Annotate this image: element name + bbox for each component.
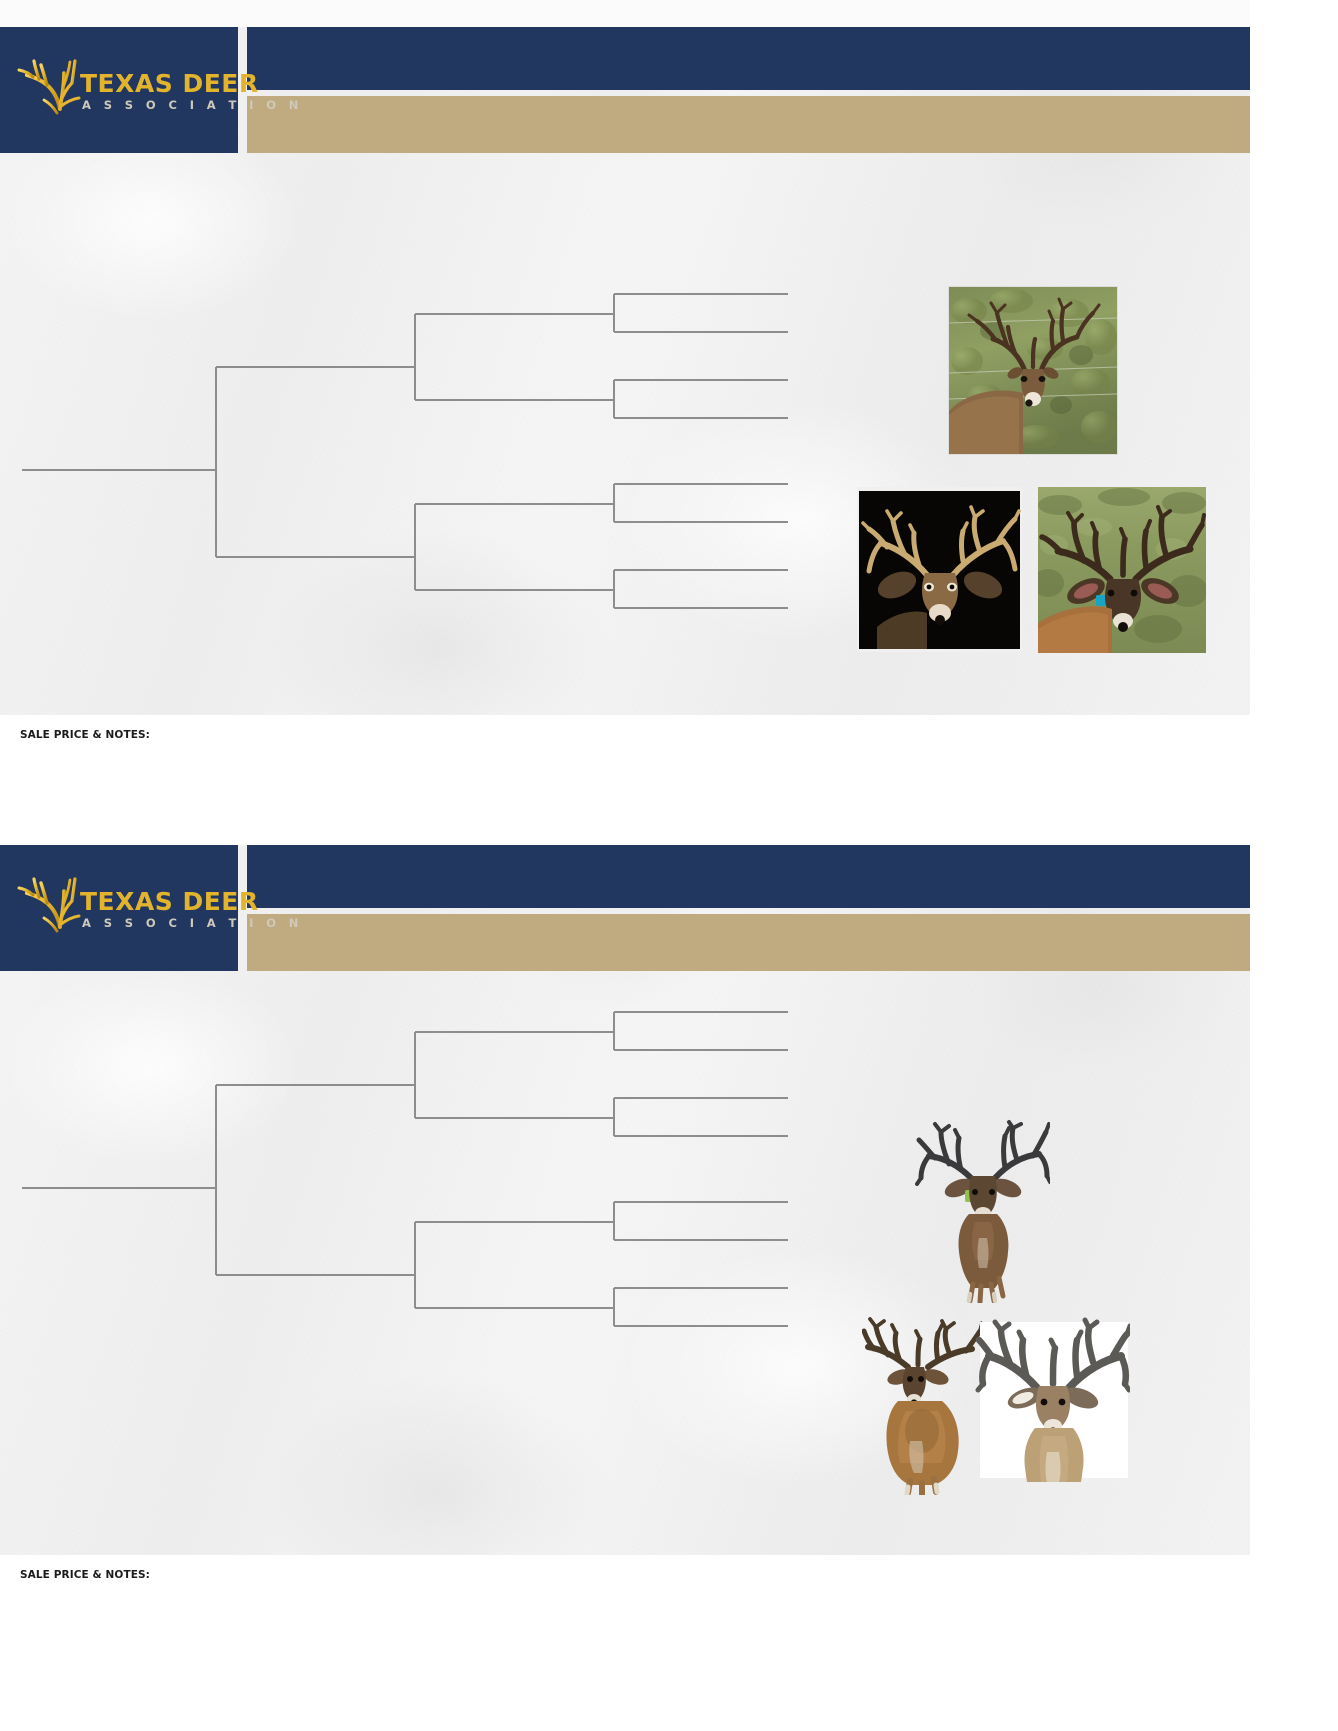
page-header: TEXAS DEER A S S O C I A T I O N: [0, 27, 1250, 153]
catalog-page-2: TEXAS DEER A S S O C I A T I O N: [0, 845, 1250, 1635]
header-navy-bar: [247, 845, 1250, 908]
header-tan-bar: [247, 914, 1250, 971]
page-top-margin: [0, 0, 1250, 27]
bottom-margin: [0, 1635, 1338, 1731]
buck-photo-night[interactable]: [857, 487, 1022, 652]
logo-subtitle: A S S O C I A T I O N: [82, 98, 303, 112]
logo-block[interactable]: TEXAS DEER A S S O C I A T I O N: [0, 845, 238, 971]
header-navy-bar: [247, 27, 1250, 90]
logo-subtitle: A S S O C I A T I O N: [82, 916, 303, 930]
buck-photo-velvet[interactable]: [1038, 487, 1206, 653]
logo-wordmark: TEXAS DEER: [80, 69, 259, 98]
buck-photo-main[interactable]: [915, 1118, 1050, 1303]
page-header: TEXAS DEER A S S O C I A T I O N: [0, 845, 1250, 971]
page-footer: [0, 1555, 1250, 1635]
sale-price-notes-label: SALE PRICE & NOTES:: [20, 1569, 150, 1581]
header-tan-bar: [247, 96, 1250, 153]
pedigree-bracket[interactable]: [0, 1000, 820, 1340]
logo-wordmark: TEXAS DEER: [80, 887, 259, 916]
sale-price-notes-label: SALE PRICE & NOTES:: [20, 729, 150, 741]
buck-photo-rear[interactable]: [862, 1315, 982, 1495]
buck-photo-white-card[interactable]: [975, 1306, 1130, 1482]
right-margin: [1250, 0, 1338, 1731]
catalog-page-1: TEXAS DEER A S S O C I A T I O N: [0, 0, 1250, 790]
page-gap: [0, 790, 1338, 845]
buck-photo-main[interactable]: [948, 286, 1118, 455]
pedigree-bracket[interactable]: [0, 282, 820, 622]
logo-block[interactable]: TEXAS DEER A S S O C I A T I O N: [0, 27, 238, 153]
page-footer: [0, 715, 1250, 790]
